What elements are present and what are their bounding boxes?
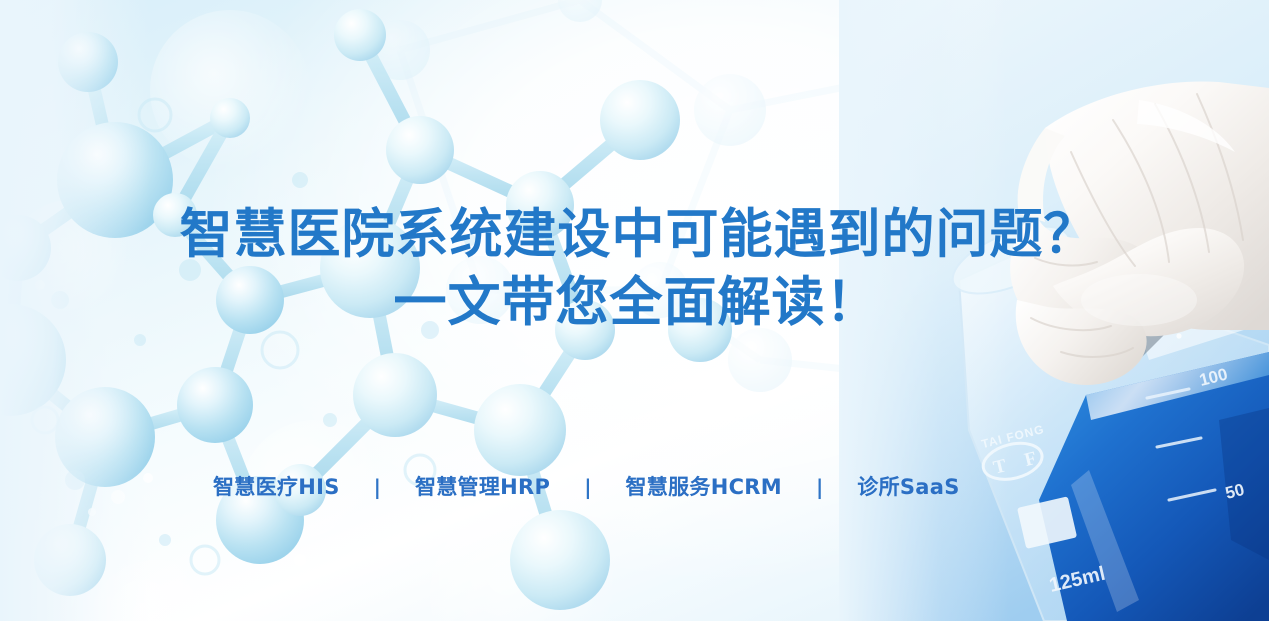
nav-item-hrp[interactable]: 智慧管理HRP (415, 472, 550, 502)
headline-line-1: 智慧医院系统建设中可能遇到的问题？ (0, 203, 1269, 267)
headline: 智慧医院系统建设中可能遇到的问题？ 一文带您全面解读！ (0, 203, 1269, 335)
nav-item-saas[interactable]: 诊所SaaS (857, 472, 959, 502)
nav-separator: | (340, 472, 415, 502)
nav-separator: | (550, 472, 625, 502)
product-nav: 智慧医疗HIS | 智慧管理HRP | 智慧服务HCRM | 诊所SaaS (0, 472, 1269, 502)
bokeh-blob (0, 520, 130, 621)
bokeh-blob (430, 500, 620, 621)
nav-item-hcrm[interactable]: 智慧服务HCRM (626, 472, 782, 502)
nav-separator: | (782, 472, 857, 502)
bokeh-blob (90, 560, 220, 621)
nav-item-his[interactable]: 智慧医疗HIS (213, 472, 340, 502)
bokeh-blob (150, 10, 310, 170)
headline-line-2: 一文带您全面解读！ (0, 271, 1269, 335)
hospital-system-banner: 100 50 125ml TAI FONG T F (0, 0, 1269, 621)
